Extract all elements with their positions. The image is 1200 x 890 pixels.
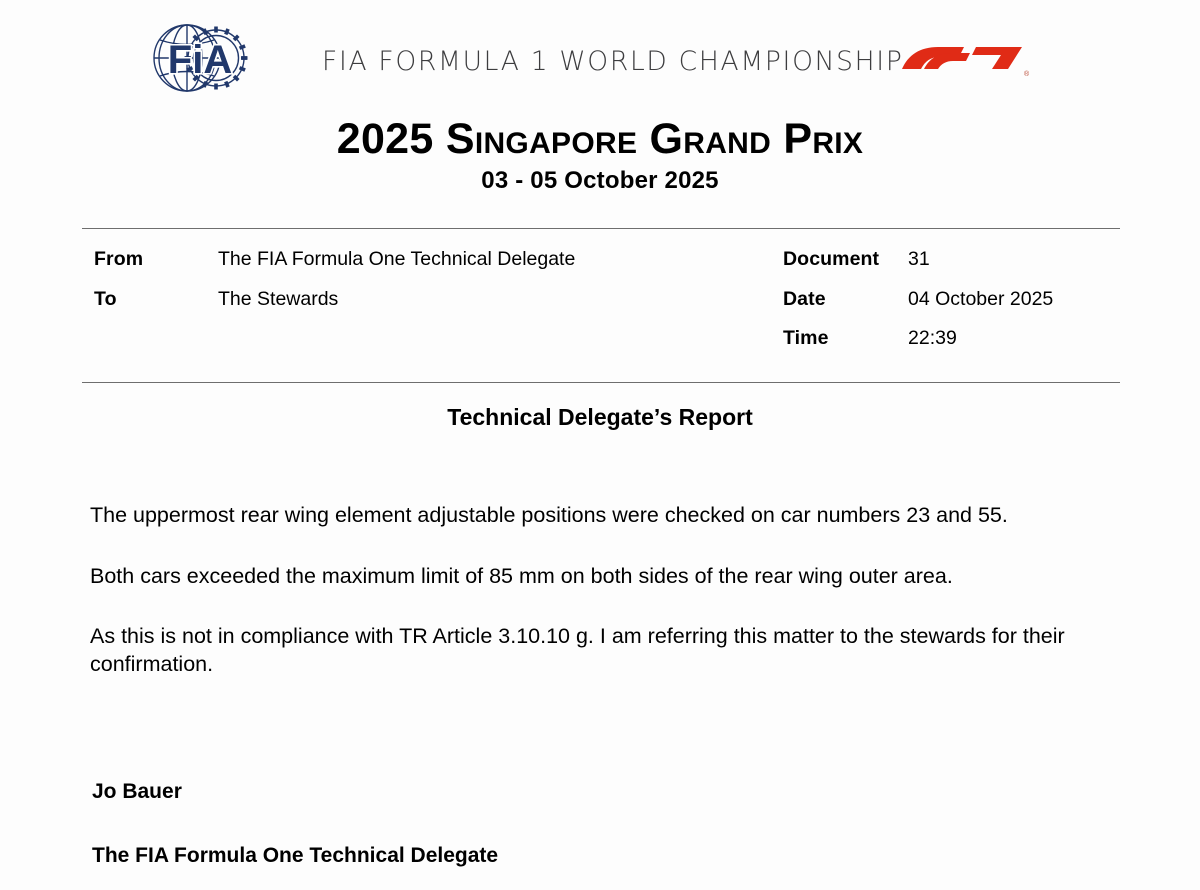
- f1-registered-trademark-icon: ®: [1024, 70, 1030, 78]
- signature-block: Jo Bauer The FIA Formula One Technical D…: [92, 780, 792, 868]
- from-value: The FIA Formula One Technical Delegate: [218, 248, 575, 271]
- report-body: The uppermost rear wing element adjustab…: [90, 502, 1090, 678]
- document-masthead: FiA FIA FORMULA 1 WORLD CHAMPIONSHIP ®: [0, 8, 1200, 103]
- report-paragraph-1: The uppermost rear wing element adjustab…: [90, 502, 1090, 530]
- time-value: 22:39: [908, 327, 957, 350]
- fia-wordmark: FiA: [168, 38, 232, 82]
- time-label: Time: [783, 327, 829, 350]
- signatory-name: Jo Bauer: [92, 780, 792, 804]
- document-value: 31: [908, 248, 930, 271]
- document-page: FiA FIA FORMULA 1 WORLD CHAMPIONSHIP ® 2…: [0, 0, 1200, 890]
- date-label: Date: [783, 288, 826, 311]
- f1-logo-icon: ®: [898, 36, 1030, 80]
- fia-logo-icon: FiA: [144, 18, 256, 98]
- from-label: From: [94, 248, 143, 271]
- divider-bottom: [82, 382, 1120, 383]
- to-value: The Stewards: [218, 288, 338, 311]
- document-label: Document: [783, 248, 879, 271]
- date-value: 04 October 2025: [908, 288, 1053, 311]
- report-paragraph-3: As this is not in compliance with TR Art…: [90, 623, 1090, 678]
- divider-top: [82, 228, 1120, 229]
- signatory-role: The FIA Formula One Technical Delegate: [92, 844, 792, 868]
- event-dates: 03 - 05 October 2025: [0, 167, 1200, 195]
- document-meta: From The FIA Formula One Technical Deleg…: [0, 248, 1200, 368]
- event-title: 2025 Singapore Grand Prix: [0, 118, 1200, 161]
- championship-title: FIA FORMULA 1 WORLD CHAMPIONSHIP: [322, 46, 822, 77]
- to-label: To: [94, 288, 117, 311]
- report-paragraph-2: Both cars exceeded the maximum limit of …: [90, 563, 1090, 591]
- report-heading: Technical Delegate’s Report: [0, 404, 1200, 431]
